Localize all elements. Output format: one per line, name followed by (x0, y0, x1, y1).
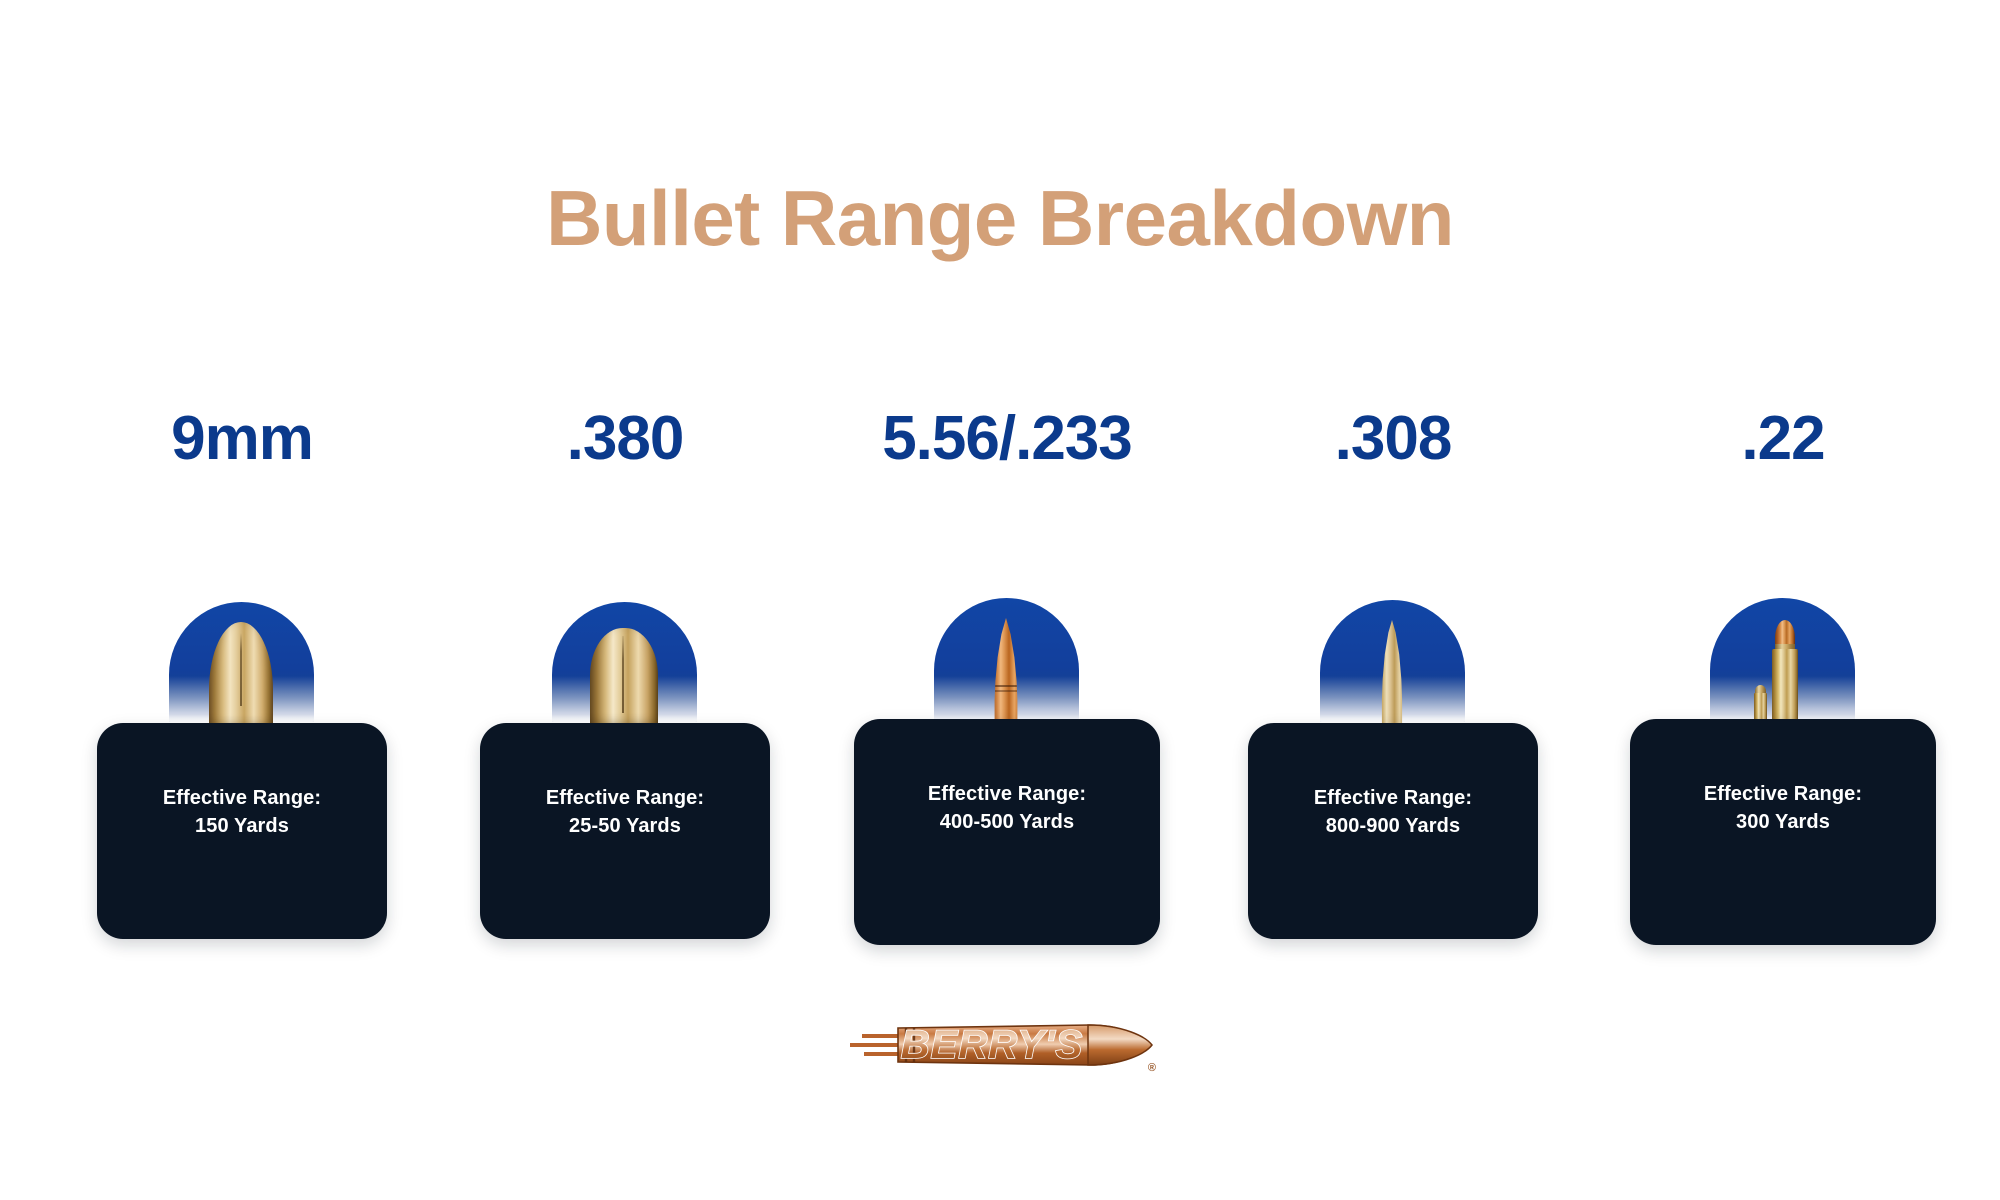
cartridge-pair-icon (1638, 0, 1928, 1200)
stub-nose-bullet-icon (480, 0, 770, 1200)
range-text-308: Effective Range: 800-900 Yards (1256, 785, 1530, 840)
range-label: Effective Range: (163, 787, 321, 809)
range-value: 300 Yards (1638, 809, 1928, 837)
boat-tail-bullet-icon (1248, 0, 1538, 1200)
range-label: Effective Range: (928, 783, 1086, 805)
range-value: 800-900 Yards (1256, 813, 1530, 841)
range-value: 150 Yards (105, 813, 379, 841)
range-card-380[interactable]: Effective Range: 25-50 Yards (480, 723, 770, 939)
caliber-column-9mm[interactable]: 9mm Effective Range: 150 Yards (97, 0, 387, 1200)
range-text-380: Effective Range: 25-50 Yards (488, 785, 762, 840)
caliber-column-380[interactable]: .380 Effective Range: 25-50 Yards (480, 0, 770, 1200)
range-card-22[interactable]: Effective Range: 300 Yards (1630, 719, 1936, 945)
bullet-tip-shape (1088, 1025, 1152, 1065)
range-text-9mm: Effective Range: 150 Yards (105, 785, 379, 840)
caliber-column-308[interactable]: .308 Effective Range: 800-900 Yards (1248, 0, 1538, 1200)
range-text-22: Effective Range: 300 Yards (1638, 781, 1928, 836)
range-label: Effective Range: (1704, 783, 1862, 805)
range-value: 25-50 Yards (488, 813, 762, 841)
range-label: Effective Range: (546, 787, 704, 809)
range-text-556: Effective Range: 400-500 Yards (862, 781, 1152, 836)
range-value: 400-500 Yards (862, 809, 1152, 837)
range-card-9mm[interactable]: Effective Range: 150 Yards (97, 723, 387, 939)
range-label: Effective Range: (1314, 787, 1472, 809)
registered-trademark-icon: ® (1148, 1062, 1156, 1074)
caliber-column-22[interactable]: .22 Effective Range: 300 Yards (1638, 0, 1928, 1200)
berrys-logo[interactable]: BERRY'S ® (840, 1000, 1160, 1090)
infographic-canvas: Bullet Range Breakdown 9mm Effective Ran… (0, 0, 2000, 1200)
range-card-556[interactable]: Effective Range: 400-500 Yards (854, 719, 1160, 945)
berrys-wordmark-text: BERRY'S (901, 1023, 1084, 1067)
range-card-308[interactable]: Effective Range: 800-900 Yards (1248, 723, 1538, 939)
round-nose-bullet-icon (97, 0, 387, 1200)
